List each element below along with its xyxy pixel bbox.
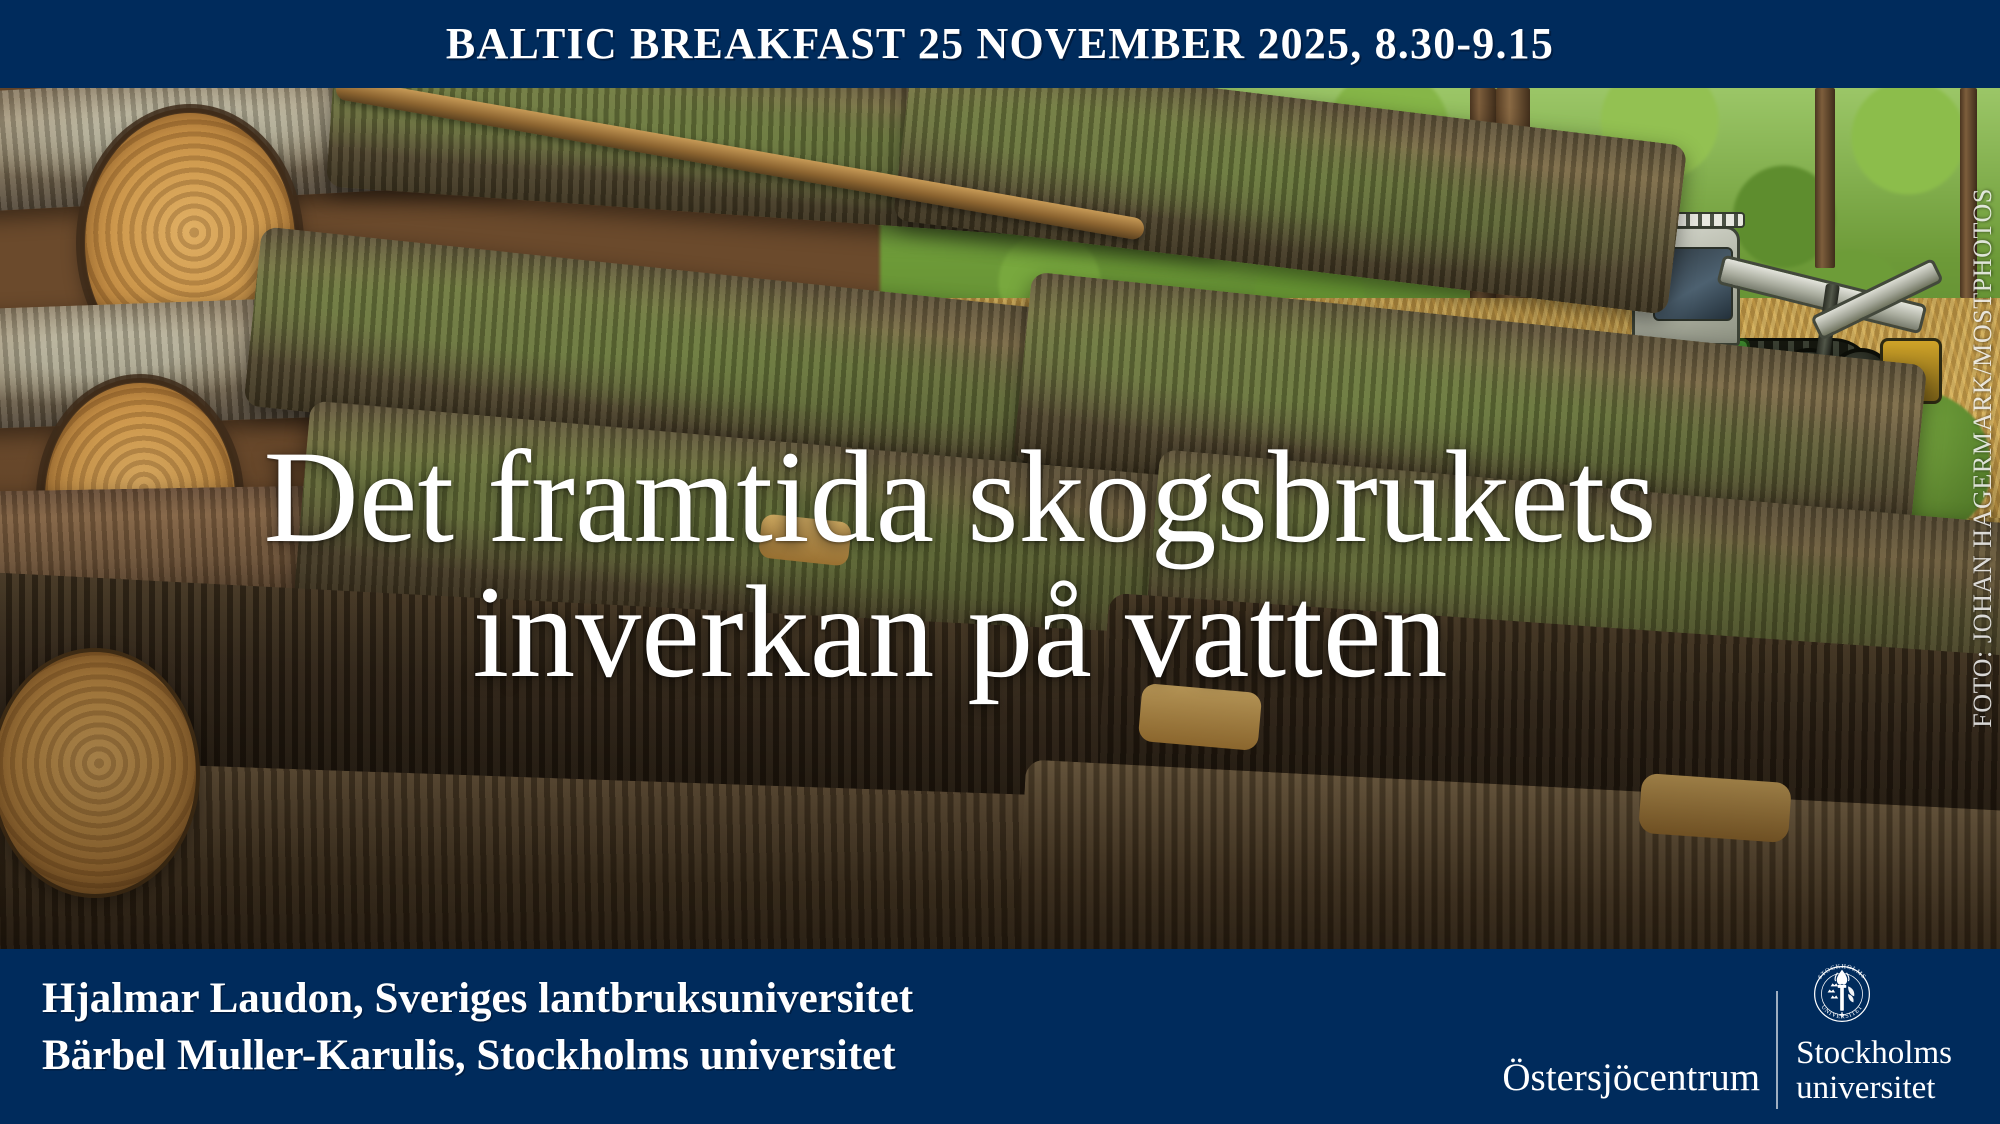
event-poster: BALTIC BREAKFAST 25 NOVEMBER 2025, 8.30-… — [0, 0, 2000, 1124]
speaker-list: Hjalmar Laudon, Sveriges lantbruksuniver… — [42, 971, 913, 1085]
footer-bar: Hjalmar Laudon, Sveriges lantbruksuniver… — [0, 949, 2000, 1124]
logo-group: Östersjöcentrum STOCKHOLMS UNIVERSITET — [1502, 969, 1952, 1109]
logo-divider — [1776, 991, 1778, 1109]
hero-photo: FOTO: JOHAN HAGERMARK/MOSTPHOTOS — [0, 88, 2000, 949]
stockholm-university-logo: STOCKHOLMS UNIVERSITET — [1796, 956, 1952, 1109]
event-header-bar: BALTIC BREAKFAST 25 NOVEMBER 2025, 8.30-… — [0, 0, 2000, 88]
university-name-line-2: universitet — [1796, 1071, 1935, 1105]
sapwood-patch — [758, 513, 852, 566]
photo-credit-text: FOTO: JOHAN HAGERMARK/MOSTPHOTOS — [1968, 188, 1998, 728]
sapwood-patch — [1638, 773, 1792, 843]
speaker-2: Bärbel Muller-Karulis, Stockholms univer… — [42, 1028, 913, 1085]
ostersjocentrum-logo-text: Östersjöcentrum — [1502, 1058, 1776, 1109]
speaker-1: Hjalmar Laudon, Sveriges lantbruksuniver… — [42, 971, 913, 1028]
event-title-banner: BALTIC BREAKFAST 25 NOVEMBER 2025, 8.30-… — [446, 22, 1554, 66]
sapwood-patch — [1138, 683, 1263, 751]
photo-artwork — [0, 88, 2000, 949]
university-seal-icon: STOCKHOLMS UNIVERSITET — [1804, 956, 1880, 1032]
photo-credit: FOTO: JOHAN HAGERMARK/MOSTPHOTOS — [1968, 188, 1998, 728]
university-name-line-1: Stockholms — [1796, 1036, 1952, 1070]
